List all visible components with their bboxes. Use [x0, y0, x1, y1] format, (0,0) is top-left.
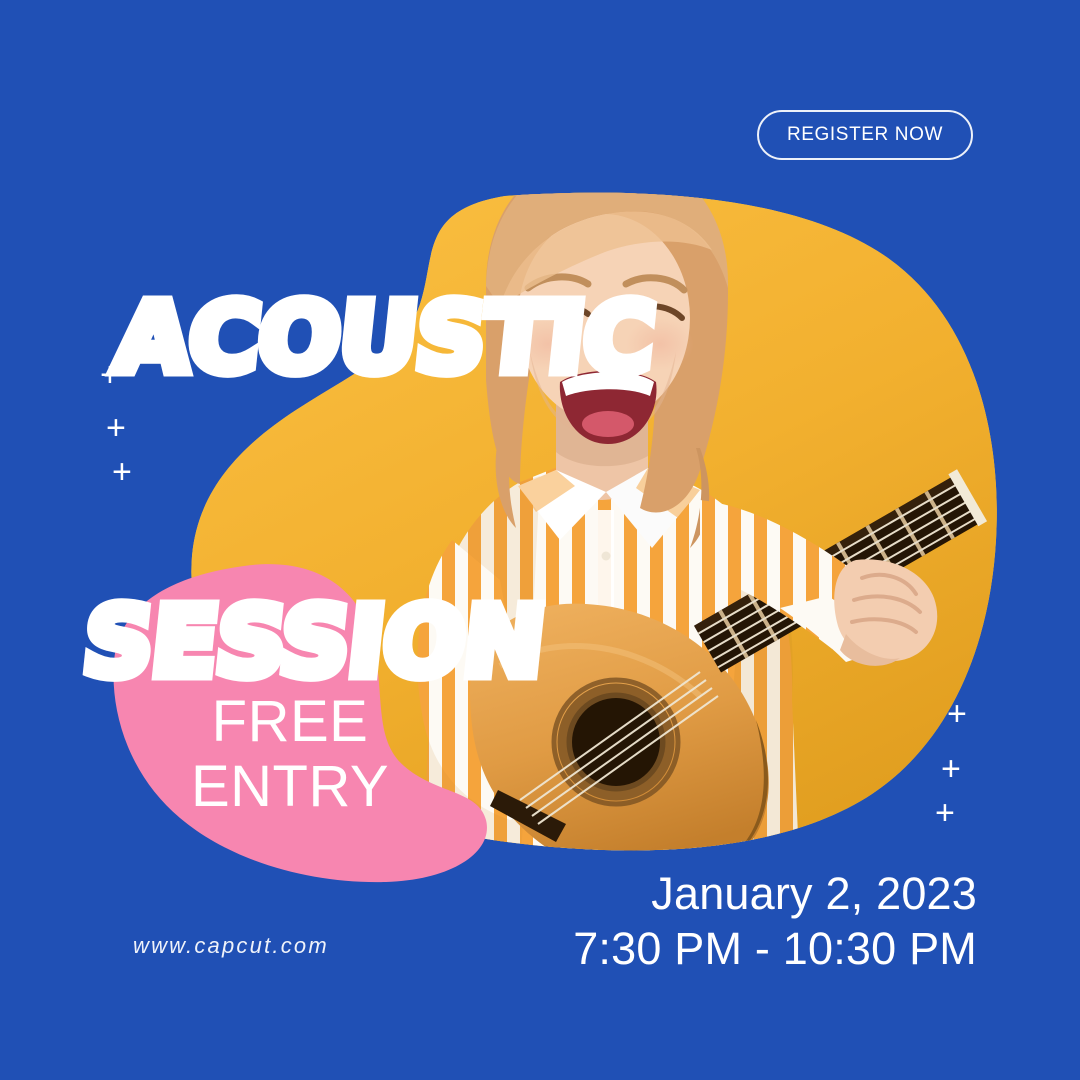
register-now-label: REGISTER NOW [787, 124, 943, 146]
plus-icon: + [112, 455, 132, 489]
plus-icon: + [106, 411, 126, 445]
headline-line-1: ACOUSTIC [111, 291, 658, 385]
plus-icon: + [100, 358, 120, 392]
headline-line-2: SESSION [79, 595, 626, 689]
event-datetime: January 2, 2023 7:30 PM - 10:30 PM [573, 867, 977, 977]
plus-icon: + [947, 697, 967, 731]
event-time: 7:30 PM - 10:30 PM [573, 922, 977, 977]
plus-icon: + [941, 752, 961, 786]
page-title: ACOUSTIC SESSION [59, 103, 678, 878]
register-now-button[interactable]: REGISTER NOW [757, 110, 973, 160]
website-url[interactable]: www.capcut.com [133, 933, 329, 959]
plus-icon: + [935, 796, 955, 830]
event-date: January 2, 2023 [573, 867, 977, 922]
poster-canvas: ACOUSTIC SESSION REGISTER NOW FREE ENTRY… [0, 0, 1080, 1080]
